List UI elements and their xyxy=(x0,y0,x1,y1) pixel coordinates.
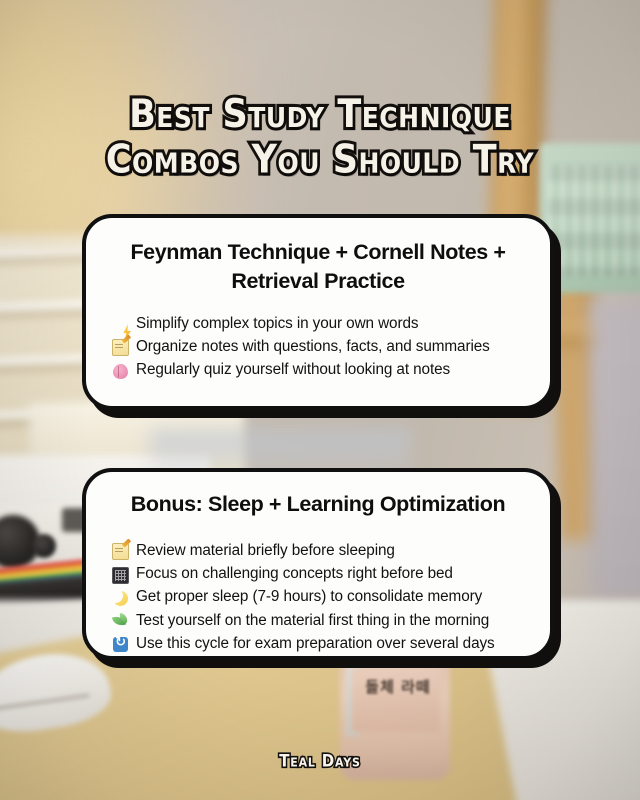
crescent-moon-icon xyxy=(112,585,129,607)
list-item: Focus on challenging concepts right befo… xyxy=(112,562,550,585)
repeat-cycle-icon xyxy=(112,632,129,654)
list-item-label: Simplify complex topics in your own word… xyxy=(136,312,418,335)
brain-icon xyxy=(112,358,129,380)
card-bullet-list: Simplify complex topics in your own word… xyxy=(86,296,550,382)
list-item-label: Review material briefly before sleeping xyxy=(136,539,395,562)
list-item: Organize notes with questions, facts, an… xyxy=(112,335,550,358)
memo-notepad-icon xyxy=(112,539,129,561)
list-item-label: Test yourself on the material first thin… xyxy=(136,609,489,632)
card-heading: Bonus: Sleep + Learning Optimization xyxy=(86,472,550,519)
list-item-label: Use this cycle for exam preparation over… xyxy=(136,632,495,655)
lightning-bolt-icon xyxy=(112,312,129,334)
herb-leaf-icon xyxy=(112,609,129,631)
page-title-line-1: Best Study Technique xyxy=(0,93,640,139)
list-item-label: Organize notes with questions, facts, an… xyxy=(136,335,490,358)
page-title-line-2: Combos You Should Try xyxy=(0,138,640,184)
list-item: Get proper sleep (7-9 hours) to consolid… xyxy=(112,585,550,608)
list-item: Regularly quiz yourself without looking … xyxy=(112,358,550,381)
list-item-label: Focus on challenging concepts right befo… xyxy=(136,562,453,585)
list-item-label: Get proper sleep (7-9 hours) to consolid… xyxy=(136,585,482,608)
card-heading: Feynman Technique + Cornell Notes + Retr… xyxy=(86,218,550,296)
list-item: Review material briefly before sleeping xyxy=(112,539,550,562)
technique-card-bonus: Bonus: Sleep + Learning Optimization Rev… xyxy=(82,468,554,660)
card-bullet-list: Review material briefly before sleeping … xyxy=(86,519,550,655)
list-item: Use this cycle for exam preparation over… xyxy=(112,632,550,655)
list-item-label: Regularly quiz yourself without looking … xyxy=(136,358,450,381)
brand-watermark: Teal Days xyxy=(0,751,640,771)
memo-notepad-icon xyxy=(112,335,129,357)
list-item: Test yourself on the material first thin… xyxy=(112,609,550,632)
dark-grid-icon xyxy=(112,562,129,584)
list-item: Simplify complex topics in your own word… xyxy=(112,312,550,335)
poster-canvas: 돌체 라떼 Best Study Technique Combos You Sh… xyxy=(0,0,640,800)
technique-card-primary: Feynman Technique + Cornell Notes + Retr… xyxy=(82,214,554,410)
page-title: Best Study Technique Combos You Should T… xyxy=(0,93,640,185)
